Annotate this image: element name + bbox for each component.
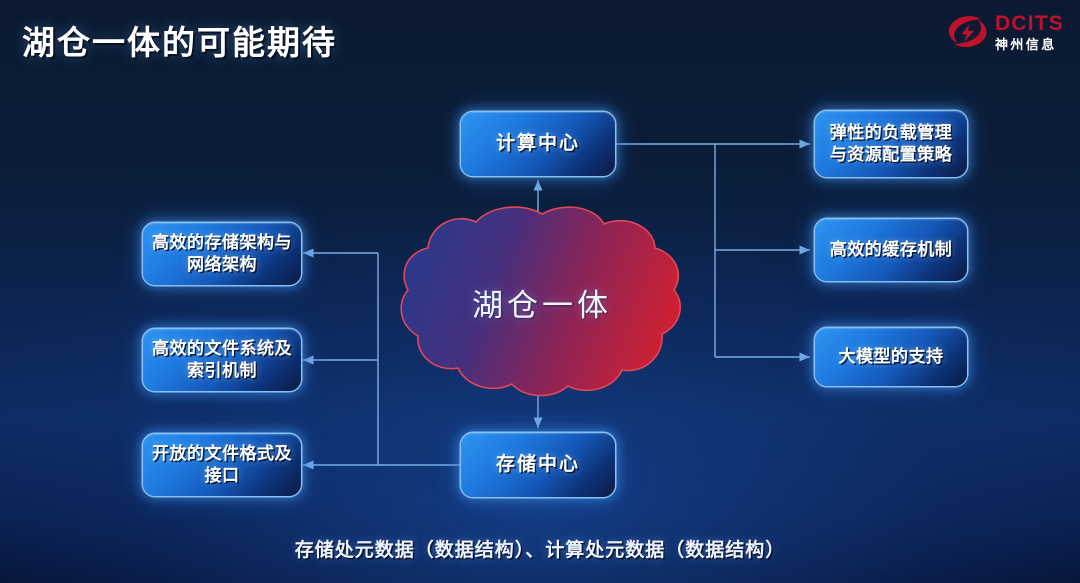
- node-left-3-label: 开放的文件格式及接口: [143, 443, 301, 488]
- node-right-3-label: 大模型的支持: [830, 346, 953, 368]
- node-right-1[interactable]: 弹性的负载管理与资源配置策略: [815, 111, 967, 177]
- footer-caption: 存储处元数据（数据结构）、计算处元数据（数据结构）: [0, 535, 1080, 562]
- node-left-2[interactable]: 高效的文件系统及索引机制: [143, 329, 301, 391]
- node-left-1[interactable]: 高效的存储架构与网络架构: [143, 223, 301, 285]
- node-right-3[interactable]: 大模型的支持: [815, 328, 967, 386]
- node-left-2-label: 高效的文件系统及索引机制: [143, 338, 301, 383]
- node-storage-center[interactable]: 存储中心: [461, 433, 615, 497]
- slide-canvas: 湖仓一体的可能期待 DCITS 神州信息: [0, 0, 1080, 583]
- brand-logo: DCITS 神州信息: [946, 12, 1064, 52]
- brand-name-cn: 神州信息: [995, 38, 1064, 51]
- node-right-2[interactable]: 高效的缓存机制: [815, 219, 967, 281]
- node-storage-center-label: 存储中心: [487, 452, 589, 477]
- node-left-3[interactable]: 开放的文件格式及接口: [143, 434, 301, 496]
- node-left-1-label: 高效的存储架构与网络架构: [143, 232, 301, 277]
- node-right-1-label: 弹性的负载管理与资源配置策略: [815, 122, 967, 167]
- dcits-swoosh-icon: [946, 12, 988, 52]
- node-compute-center-label: 计算中心: [487, 131, 589, 156]
- node-compute-center[interactable]: 计算中心: [461, 112, 615, 176]
- lakehouse-cloud: 湖仓一体: [396, 204, 688, 400]
- page-title: 湖仓一体的可能期待: [22, 16, 337, 64]
- brand-name-en: DCITS: [995, 13, 1064, 34]
- node-right-2-label: 高效的缓存机制: [821, 239, 962, 261]
